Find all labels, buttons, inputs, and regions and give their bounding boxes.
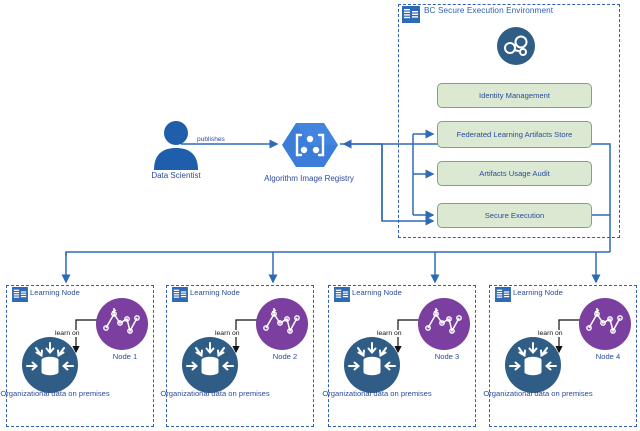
building-icon <box>172 287 188 302</box>
diagram-canvas: BC Secure Execution Environment Identity… <box>0 0 640 431</box>
service-box-federated-learning-artifacts-store[interactable]: Federated Learning Artifacts Store <box>437 121 592 148</box>
database-ingest-icon <box>505 337 561 393</box>
learn-on-label-2: learn on <box>214 330 241 337</box>
learn-on-label-3: learn on <box>376 330 403 337</box>
database-ingest-icon <box>22 337 78 393</box>
network-graph-icon <box>418 298 470 350</box>
data-scientist-label: Data Scientist <box>136 171 216 180</box>
publishes-edge-label: publishes <box>196 136 226 143</box>
organizational-data-label-3: Organizational data on premises <box>322 389 432 399</box>
node-label-4: Node 4 <box>584 352 632 361</box>
learning-node-title-1: Learning Node <box>30 288 80 297</box>
learn-on-label-1: learn on <box>54 330 81 337</box>
learning-node-title-3: Learning Node <box>352 288 402 297</box>
learning-node-title-4: Learning Node <box>513 288 563 297</box>
network-graph-icon <box>256 298 308 350</box>
network-graph-icon <box>579 298 631 350</box>
network-graph-icon <box>96 298 148 350</box>
node-label-1: Node 1 <box>101 352 149 361</box>
database-ingest-icon <box>182 337 238 393</box>
organizational-data-label-2: Organizational data on premises <box>160 389 270 399</box>
building-icon <box>402 6 420 23</box>
service-box-secure-execution[interactable]: Secure Execution <box>437 203 592 228</box>
node-label-3: Node 3 <box>423 352 471 361</box>
learn-on-label-4: learn on <box>537 330 564 337</box>
service-box-identity-management[interactable]: Identity Management <box>437 83 592 108</box>
blockchain-icon <box>496 26 536 66</box>
building-icon <box>12 287 28 302</box>
container-registry-hexagon-icon[interactable] <box>281 121 339 169</box>
organizational-data-label-1: Organizational data on premises <box>0 389 110 399</box>
building-icon <box>495 287 511 302</box>
service-box-artifacts-usage-audit[interactable]: Artifacts Usage Audit <box>437 161 592 186</box>
bc-environment-title: BC Secure Execution Environment <box>424 6 553 15</box>
node-label-2: Node 2 <box>261 352 309 361</box>
database-ingest-icon <box>344 337 400 393</box>
learning-node-title-2: Learning Node <box>190 288 240 297</box>
person-icon <box>150 120 202 170</box>
building-icon <box>334 287 350 302</box>
algorithm-image-registry-label: Algorithm Image Registry <box>249 174 369 183</box>
organizational-data-label-4: Organizational data on premises <box>483 389 593 399</box>
